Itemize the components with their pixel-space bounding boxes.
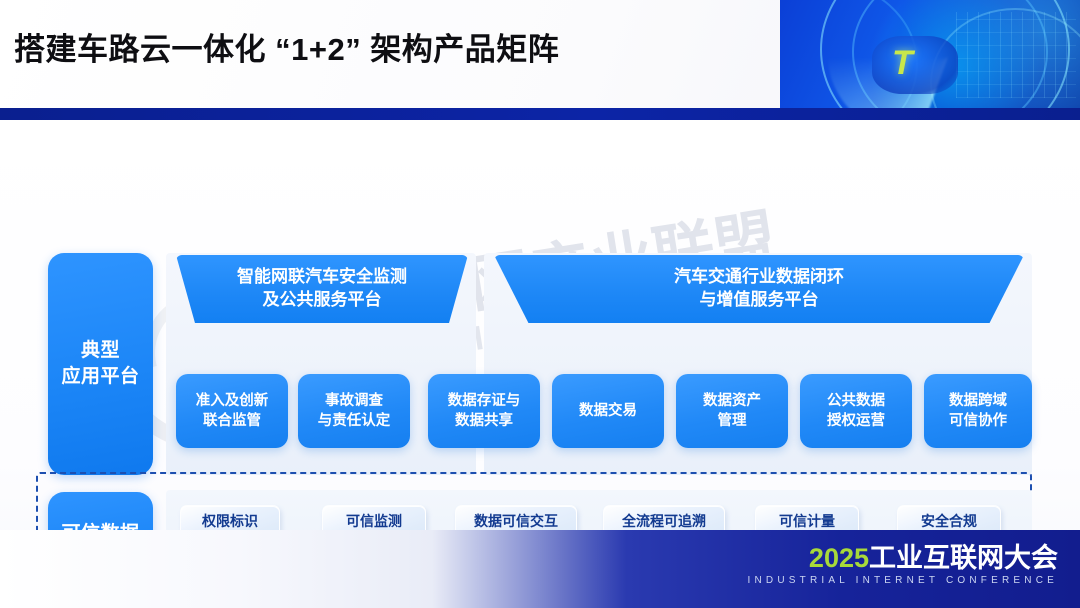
row-label-typical-application[interactable]: 典型 应用平台 [48,253,153,475]
app-box-2[interactable]: 数据存证与 数据共享 [428,374,540,448]
header-tech-graphic: T [780,0,1080,108]
slide-footer: 2025工业互联网大会 INDUSTRIAL INTERNET CONFEREN… [0,530,1080,608]
platform-left-line1: 智能网联汽车安全监测 [237,266,407,289]
app-box-2-line2: 数据共享 [448,411,521,431]
page-title: 搭建车路云一体化 “1+2” 架构产品矩阵 [14,24,559,69]
app-box-4-line1: 数据资产 [703,391,761,411]
app-box-5-line1: 公共数据 [827,391,885,411]
platform-right-line1: 汽车交通行业数据闭环 [674,266,844,289]
conference-logo-year: 2025 [809,543,869,573]
slide-header: 搭建车路云一体化 “1+2” 架构产品矩阵 T [0,0,1080,108]
platform-header-data-closed-loop[interactable]: 汽车交通行业数据闭环 与增值服务平台 [494,255,1024,323]
conference-logo: 2025工业互联网大会 INDUSTRIAL INTERNET CONFEREN… [748,544,1058,586]
platform-right-line2: 与增值服务平台 [674,289,844,312]
decorative-grid [956,12,1076,98]
row-label-typical-line2: 应用平台 [61,364,139,390]
header-divider-bar [0,108,1080,120]
app-box-3[interactable]: 数据交易 [552,374,664,448]
platform-left-line2: 及公共服务平台 [237,289,407,312]
app-box-2-line1: 数据存证与 [448,391,521,411]
app-box-1[interactable]: 事故调查 与责任认定 [298,374,410,448]
app-box-0[interactable]: 准入及创新 联合监管 [176,374,288,448]
app-box-0-line1: 准入及创新 [196,391,269,411]
app-box-5[interactable]: 公共数据 授权运营 [800,374,912,448]
slide-root: 搭建车路云一体化 “1+2” 架构产品矩阵 T 工业互联网产业联盟 Allian… [0,0,1080,608]
decorative-core [872,36,958,94]
app-box-1-line2: 与责任认定 [318,411,391,431]
app-box-6-line1: 数据跨域 [949,391,1007,411]
app-box-6[interactable]: 数据跨域 可信协作 [924,374,1032,448]
app-box-0-line2: 联合监管 [196,411,269,431]
row-label-typical-line1: 典型 [61,338,139,364]
app-box-3-line1: 数据交易 [579,401,637,421]
app-box-4[interactable]: 数据资产 管理 [676,374,788,448]
conference-logo-name-cn: 工业互联网大会 [869,543,1058,573]
conference-logo-name-en: INDUSTRIAL INTERNET CONFERENCE [748,575,1058,586]
app-box-6-line2: 可信协作 [949,411,1007,431]
app-box-5-line2: 授权运营 [827,411,885,431]
platform-header-safety-monitoring[interactable]: 智能网联汽车安全监测 及公共服务平台 [176,255,468,323]
app-box-4-line2: 管理 [703,411,761,431]
t-logo-icon: T [892,46,913,80]
app-box-1-line1: 事故调查 [318,391,391,411]
